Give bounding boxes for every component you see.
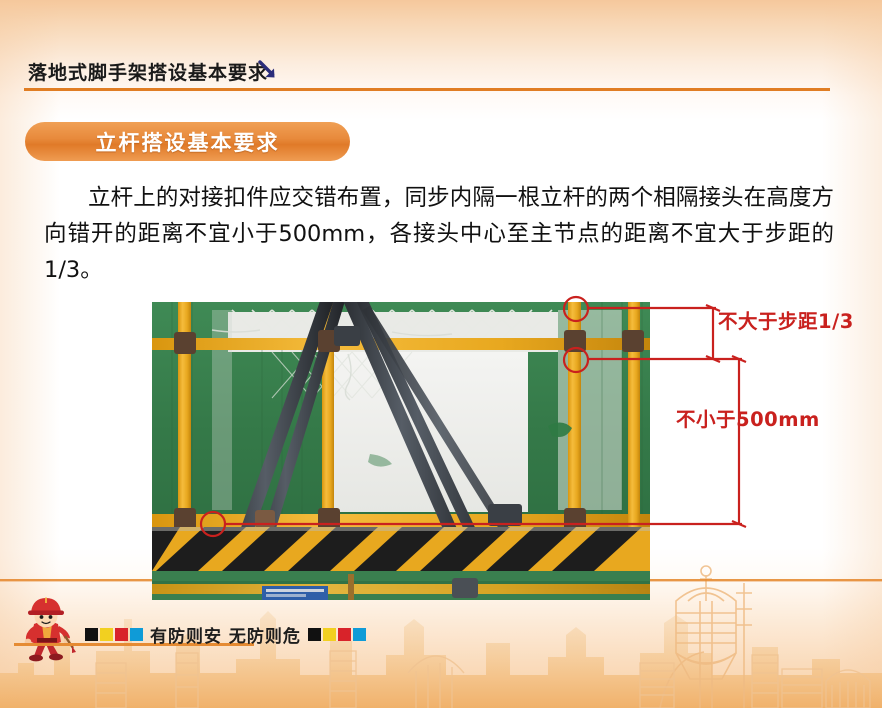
arrow-down-right-icon bbox=[255, 58, 279, 82]
swatch-right-3 bbox=[338, 628, 351, 641]
page-title: 落地式脚手架搭设基本要求 bbox=[28, 58, 268, 85]
footer-slogan: 有防则安 无防则危 bbox=[150, 622, 301, 647]
swatch-right-2 bbox=[323, 628, 336, 641]
construction-worker-mascot-icon bbox=[16, 596, 78, 662]
background-right-tint bbox=[822, 0, 882, 708]
swatch-left-1 bbox=[85, 628, 98, 641]
slide-page: 落地式脚手架搭设基本要求 立杆搭设基本要求 立杆上的对接扣件应交错布置，同步内隔… bbox=[0, 0, 882, 708]
swatch-right-4 bbox=[353, 628, 366, 641]
footer-slogan-strip: 有防则安 无防则危 bbox=[84, 622, 367, 647]
label-step-limit: 不大于步距1/3 bbox=[718, 305, 854, 334]
label-min-offset: 不小于500mm bbox=[676, 403, 820, 432]
scaffolding-photo bbox=[152, 302, 650, 600]
section-pill: 立杆搭设基本要求 bbox=[25, 122, 350, 161]
swatch-left-3 bbox=[115, 628, 128, 641]
header-divider bbox=[24, 88, 830, 91]
swatch-left-2 bbox=[100, 628, 113, 641]
swatch-right-1 bbox=[308, 628, 321, 641]
body-paragraph: 立杆上的对接扣件应交错布置，同步内隔一根立杆的两个相隔接头在高度方向错开的距离不… bbox=[44, 180, 834, 288]
swatch-left-4 bbox=[130, 628, 143, 641]
section-pill-label: 立杆搭设基本要求 bbox=[96, 127, 280, 157]
